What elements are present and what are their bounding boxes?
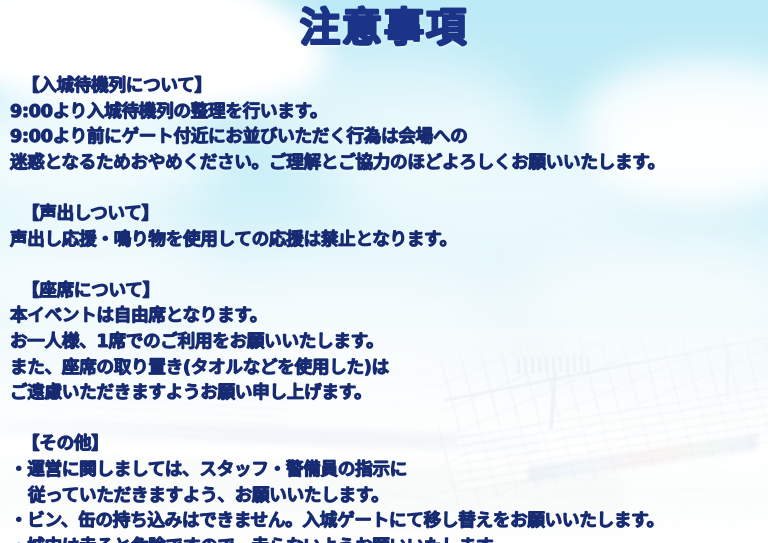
- notice-section-other: 【その他】・運営に関しましては、スタッフ・警備員の指示に従っていただきますよう、…: [10, 432, 760, 543]
- section-line: ご遠慮いただきますようお願い申し上げます。: [10, 381, 760, 407]
- notice-section-seating: 【座席について】本イベントは自由席となります。お一人様、1席でのご利用をお願いい…: [10, 279, 760, 407]
- section-heading: 【その他】: [10, 432, 760, 458]
- notice-content: 注意事項 【入城待機列について】9:00より入城待機列の整理を行います。9:00…: [0, 0, 768, 543]
- section-line: 迷惑となるためおやめください。ご理解とご協力のほどよろしくお願いいたします。: [10, 151, 760, 177]
- section-spacer: [10, 253, 760, 279]
- section-line: また、座席の取り置き(タオルなどを使用した)は: [10, 356, 760, 382]
- section-spacer: [10, 407, 760, 433]
- section-spacer: [10, 176, 760, 202]
- section-line: ・ビン、缶の持ち込みはできません。入城ゲートにて移し替えをお願いいたします。: [10, 509, 760, 535]
- section-heading: 【座席について】: [10, 279, 760, 305]
- section-line: 声出し応援・鳴り物を使用しての応援は禁止となります。: [10, 228, 760, 254]
- notice-section-entry-queue: 【入城待機列について】9:00より入城待機列の整理を行います。9:00より前にゲ…: [10, 74, 760, 176]
- section-line: ・運営に関しましては、スタッフ・警備員の指示に: [10, 458, 760, 484]
- section-heading: 【声出しついて】: [10, 202, 760, 228]
- notice-poster: 注意事項 【入城待機列について】9:00より入城待機列の整理を行います。9:00…: [0, 0, 768, 543]
- section-line: ・城内は走ると危険ですので、走らないようお願いいたします。: [10, 535, 760, 543]
- section-line: 9:00より前にゲート付近にお並びいただく行為は会場への: [10, 125, 760, 151]
- section-line: 従っていただきますよう、お願いいたします。: [10, 484, 760, 510]
- section-line: 9:00より入城待機列の整理を行います。: [10, 100, 760, 126]
- section-line: 本イベントは自由席となります。: [10, 304, 760, 330]
- notice-section-vocal-cheering: 【声出しついて】声出し応援・鳴り物を使用しての応援は禁止となります。: [10, 202, 760, 253]
- section-line: お一人様、1席でのご利用をお願いいたします。: [10, 330, 760, 356]
- page-title: 注意事項: [0, 6, 768, 50]
- notice-body: 【入城待機列について】9:00より入城待機列の整理を行います。9:00より前にゲ…: [10, 74, 760, 543]
- section-heading: 【入城待機列について】: [10, 74, 760, 100]
